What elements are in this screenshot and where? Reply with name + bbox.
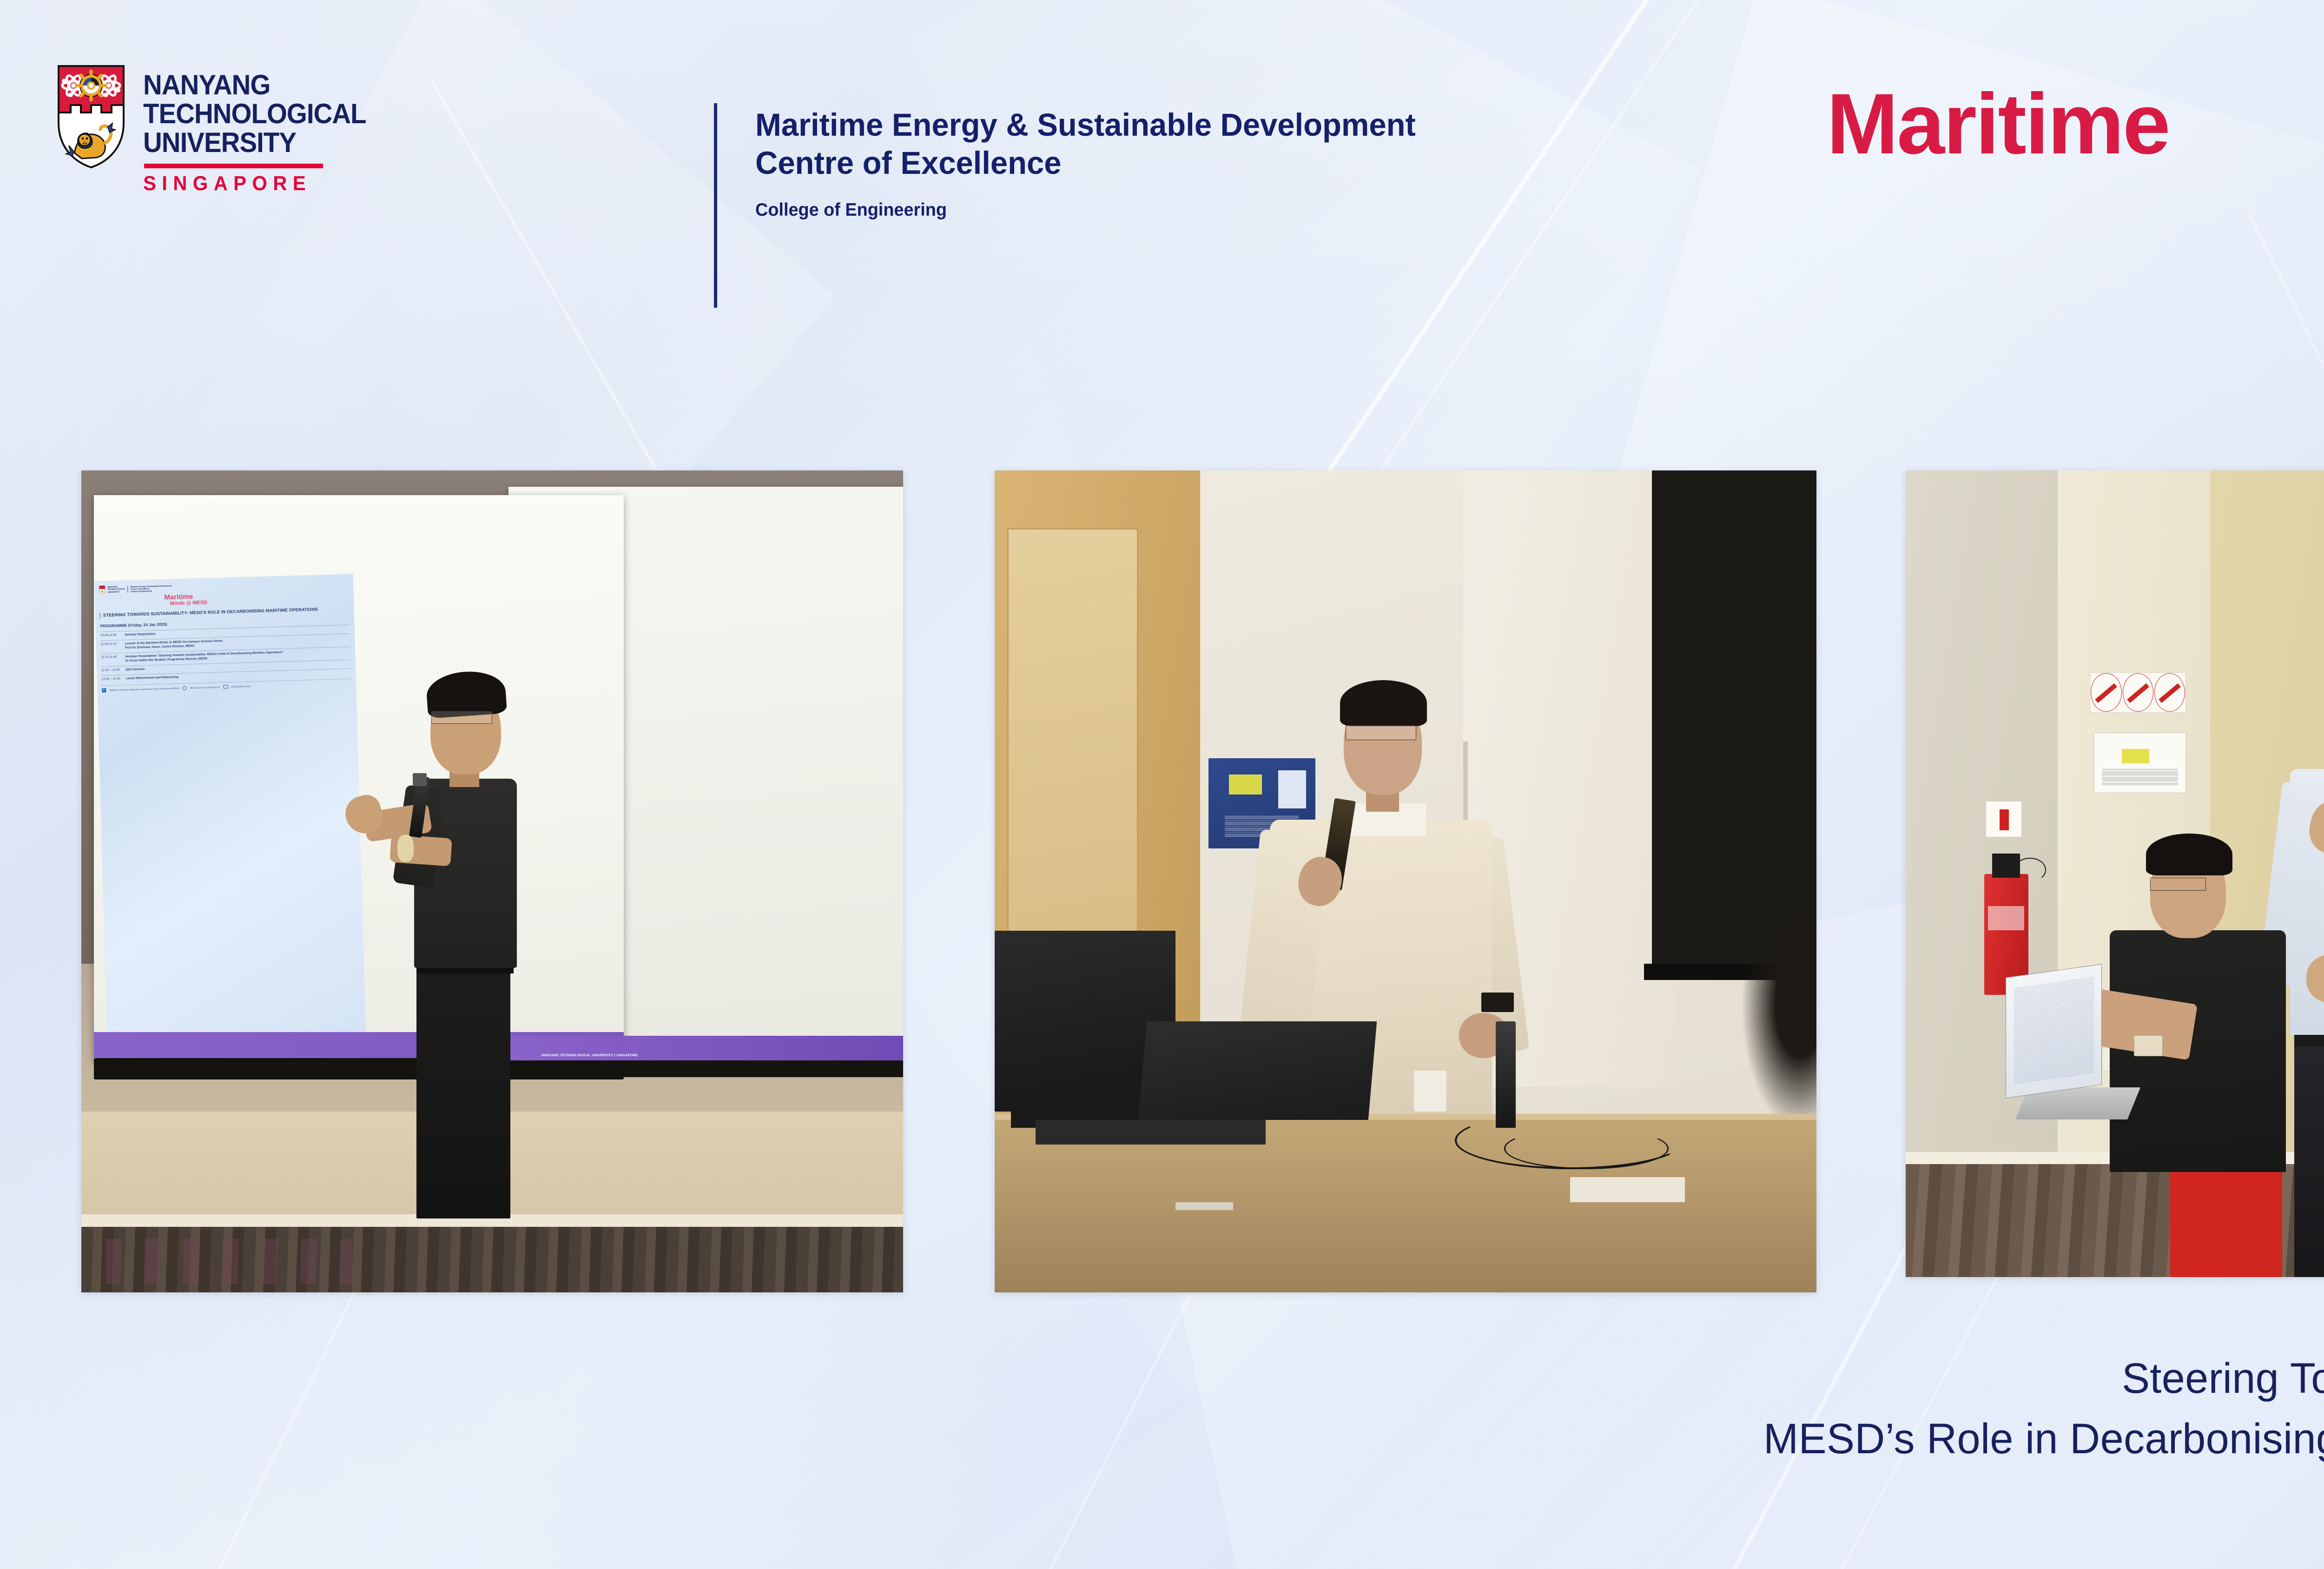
photo-speaker-at-lectern	[995, 470, 1816, 1292]
ntu-logo: NANYANG TECHNOLOGICAL UNIVERSITY SINGAPO…	[57, 64, 380, 194]
centre-title-line-1: Maritime Energy & Sustainable Developmen…	[755, 106, 1416, 144]
series-brand: Maritime Minds@MESD	[1827, 84, 2324, 235]
vertical-divider	[714, 103, 717, 308]
glasses-icon	[2150, 878, 2206, 891]
series-brand-second-line: Minds@MESD	[1827, 172, 2324, 235]
slide-footer-bar-text: NANYANG TECHNOLOGICAL UNIVERSITY | SINGA…	[541, 1054, 638, 1057]
desk-microphone	[1496, 1021, 1515, 1128]
photo-speaker-at-projection-screen: NANYANGTECHNOLOGICALUNIVERSITY Maritime …	[81, 470, 903, 1292]
photo-speaker-with-audience	[1906, 470, 2324, 1277]
door	[1007, 528, 1139, 955]
slide-contact: D-MESD@ntu.edu.sg	[231, 685, 251, 688]
row-time: 11:10-11:40	[101, 655, 125, 663]
linkedin-icon: in	[102, 688, 106, 692]
centre-subtitle: College of Engineering	[755, 200, 1416, 220]
projected-slide: NANYANGTECHNOLOGICALUNIVERSITY Maritime …	[94, 574, 366, 1058]
row-desc: Lunch Refreshment and Networking	[126, 675, 178, 680]
slide-website: https://www.ntu.edu.sg/mesd-coe	[190, 686, 220, 689]
row-time: 10:45-11:00	[100, 633, 125, 637]
slide-linkedin-handle: @Maritime Energy & Sustainable Developme…	[110, 687, 179, 691]
university-line-1: NANYANG	[143, 71, 366, 99]
slide-footer: in @Maritime Energy & Sustainable Develo…	[102, 678, 351, 692]
globe-icon	[183, 686, 187, 690]
caption-line-2: MESD’s Role in Decarbonising Maritime Op…	[636, 1409, 2324, 1469]
lectern-desk	[995, 1120, 1816, 1292]
qr-code-icon	[1278, 770, 1306, 808]
poster-canvas: NANYANG TECHNOLOGICAL UNIVERSITY SINGAPO…	[0, 0, 2324, 1569]
row-time: 11:00-11:10	[101, 642, 125, 650]
prohibition-signs-icon	[2090, 672, 2186, 713]
caption-line-1: Steering Towards Sustainability :	[636, 1348, 2324, 1409]
university-country: SINGAPORE	[143, 173, 369, 194]
university-line-2: TECHNOLOGICAL	[143, 99, 366, 128]
centre-branding: Maritime Energy & Sustainable Developmen…	[755, 106, 1436, 220]
row-desc: Seminar Registration	[125, 632, 156, 637]
row-time: 11:40 – 12:00	[101, 667, 125, 672]
row-desc: Q&A Session	[125, 667, 145, 671]
poster-caption: Steering Towards Sustainability : MESD’s…	[593, 1348, 2324, 1469]
glasses-icon	[431, 711, 492, 724]
series-brand-maritime: Maritime	[1827, 84, 2324, 165]
row-time: 12:00 – 12:30	[102, 676, 126, 681]
ntu-crest-icon	[57, 64, 125, 169]
slide-title: STEERING TOWARDS SUSTAINABILITY: MESD'S …	[100, 606, 350, 618]
university-line-3: UNIVERSITY	[143, 128, 366, 157]
poster-header: NANYANG TECHNOLOGICAL UNIVERSITY SINGAPO…	[0, 0, 2324, 353]
centre-title-line-2: Centre of Excellence	[755, 144, 1416, 182]
laptop	[1138, 1021, 1377, 1120]
chat-icon	[224, 685, 228, 689]
glasses-icon	[1346, 725, 1416, 740]
red-divider-rule	[144, 164, 323, 168]
